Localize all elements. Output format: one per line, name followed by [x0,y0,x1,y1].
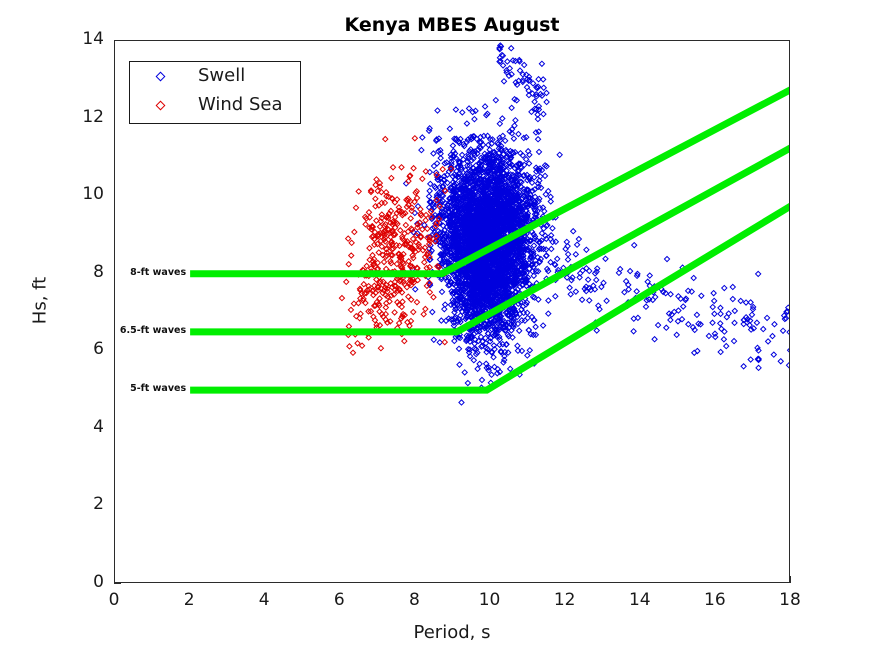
x-tick-label: 2 [159,590,219,610]
chart-title: Kenya MBES August [114,14,790,36]
legend-entry-wind-sea[interactable]: Wind Sea [130,93,300,121]
x-tick-label: 12 [535,590,595,610]
legend-label-swell: Swell [198,65,245,86]
wind-sea-marker-icon [156,101,166,111]
series-wind-sea-points [339,136,453,356]
figure-canvas: Kenya MBES August Hs, ft Period, s 02468… [0,0,875,656]
y-tick-label: 2 [44,494,104,514]
x-tick-label: 0 [84,590,144,610]
threshold-curve-label: 6.5-ft waves [96,325,186,336]
y-tick-label: 14 [44,29,104,49]
swell-marker-icon [156,72,166,82]
legend-box[interactable]: Swell Wind Sea [129,61,301,124]
y-tick-label: 10 [44,184,104,204]
y-tickmark [114,583,121,584]
x-tick-label: 10 [460,590,520,610]
x-axis-label: Period, s [114,622,790,643]
x-tickmark [790,576,791,583]
y-tick-label: 8 [44,262,104,282]
threshold-curve-label: 5-ft waves [96,383,186,394]
x-tick-label: 16 [685,590,745,610]
legend-entry-swell[interactable]: Swell [130,64,300,92]
x-tick-label: 18 [760,590,820,610]
y-tick-label: 4 [44,417,104,437]
threshold-curve-label: 8-ft waves [96,267,186,278]
x-tick-label: 4 [234,590,294,610]
legend-label-wind-sea: Wind Sea [198,94,283,115]
y-axis-label: Hs, ft [30,241,51,361]
y-tick-label: 12 [44,107,104,127]
series-swell-points [404,43,790,405]
y-tick-label: 0 [44,572,104,592]
x-tick-label: 8 [384,590,444,610]
x-tick-label: 14 [610,590,670,610]
y-tick-label: 6 [44,339,104,359]
x-tick-label: 6 [309,590,369,610]
